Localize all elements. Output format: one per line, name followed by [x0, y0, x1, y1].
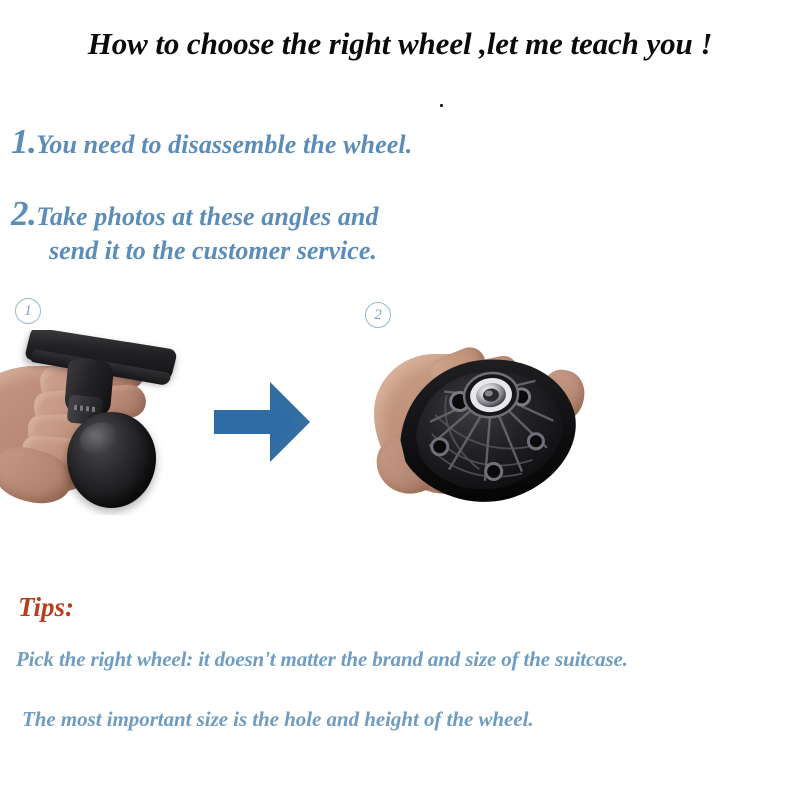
step-2-text-line-1: Take photos at these angles and: [36, 202, 378, 231]
page-title: How to choose the right wheel ,let me te…: [0, 26, 800, 62]
photo-wheel-mounting-plate: [372, 336, 602, 526]
step-2: 2.Take photos at these angles and send i…: [11, 196, 379, 268]
instruction-graphic: How to choose the right wheel ,let me te…: [0, 0, 800, 800]
right-arrow-icon: [212, 374, 312, 470]
figure-badge-2: 2: [365, 302, 391, 328]
wheel-plate-graphic: [382, 344, 591, 519]
step-2-number: 2.: [11, 194, 36, 233]
step-1: 1.You need to disassemble the wheel.: [11, 124, 412, 161]
artifact-dot: [440, 104, 443, 107]
figure-badge-1: 1: [15, 298, 41, 324]
step-1-text: You need to disassemble the wheel.: [36, 130, 412, 159]
tip-line-2: The most important size is the hole and …: [22, 707, 534, 732]
tip-line-1: Pick the right wheel: it doesn't matter …: [16, 647, 628, 672]
photo-wheel-side-view: [0, 330, 215, 515]
step-2-text-line-2: send it to the customer service.: [49, 233, 379, 268]
step-1-number: 1.: [11, 122, 36, 161]
tips-heading: Tips:: [18, 592, 74, 623]
